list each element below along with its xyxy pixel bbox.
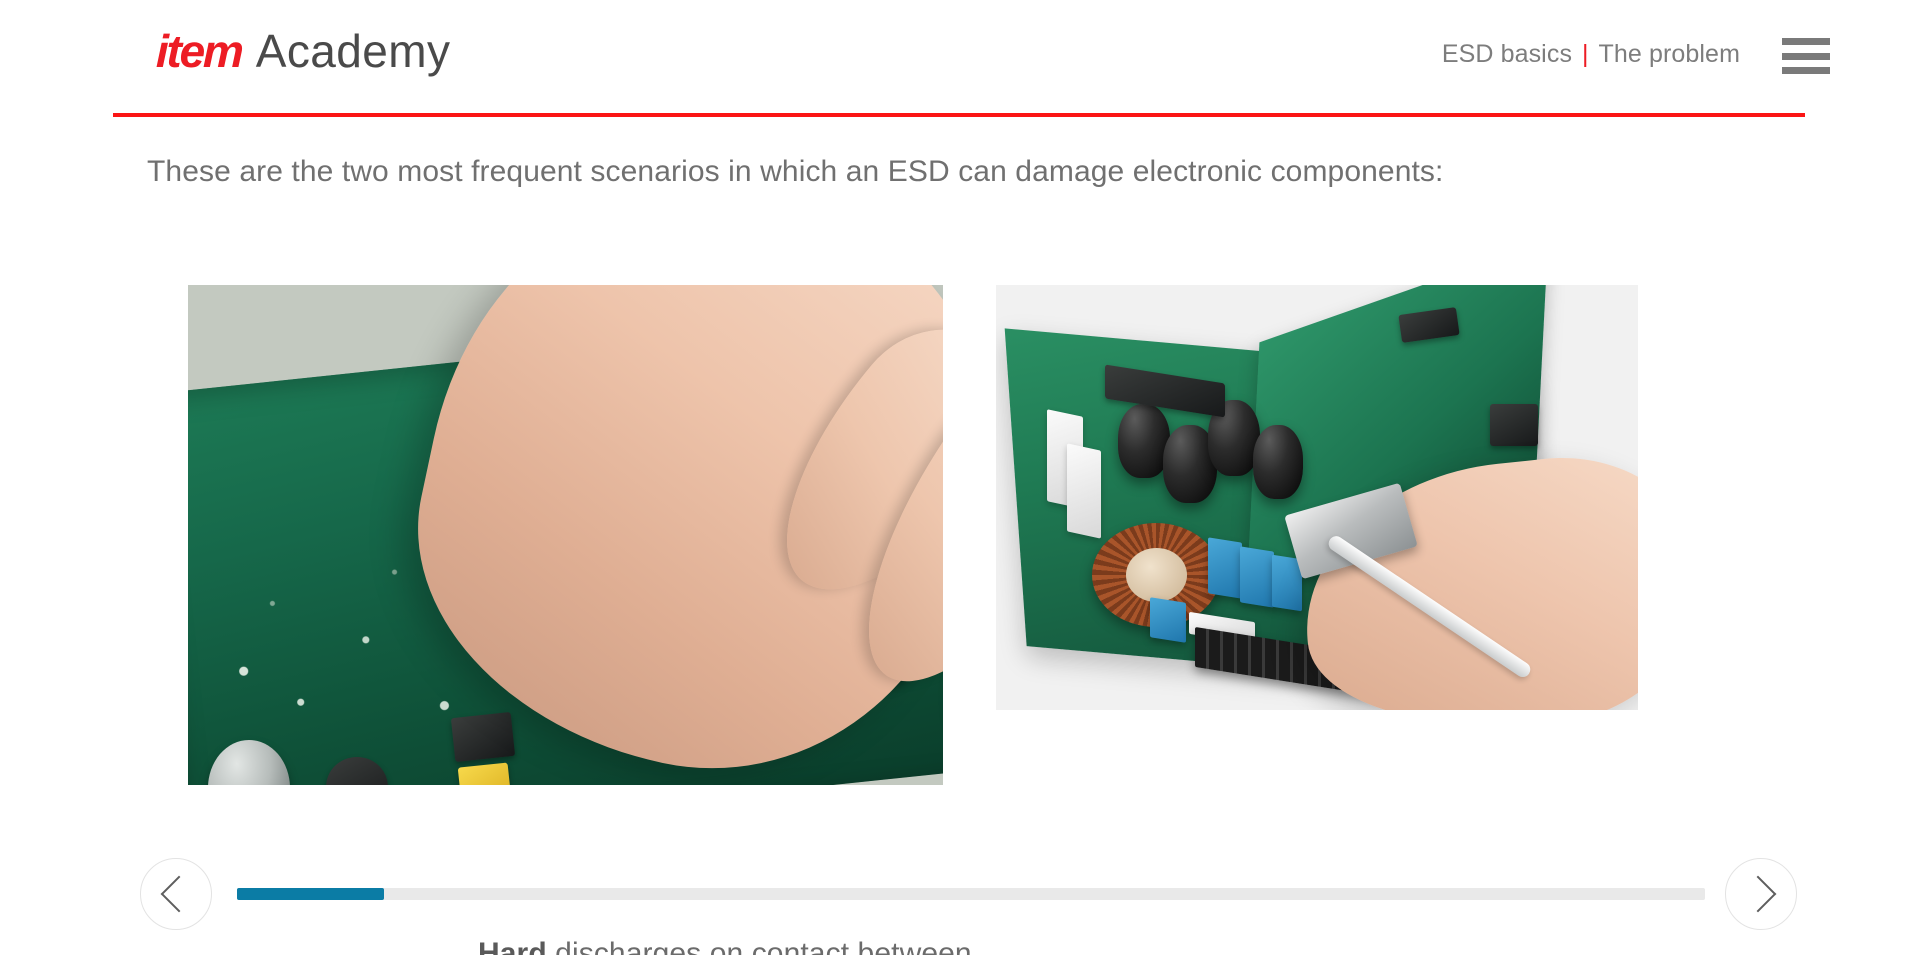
pcb-photo-connector [996,285,1638,710]
pcb-photo-hand-on-board [188,285,943,785]
chevron-left-icon [161,876,198,913]
carousel-prev-button[interactable] [140,858,212,930]
component-black-3 [451,712,515,762]
page-root: item Academy ESD basics | The problem Th… [0,0,1920,955]
capacitor-black-4 [1253,425,1303,499]
component-blue-4 [1150,597,1186,643]
caption-1-bold: Hard [478,937,547,955]
component-blue-1 [1208,537,1242,598]
caption-1-line1: discharges on contact between [547,937,972,955]
scenario-cards: Hard discharges on contact between peopl… [0,0,1920,955]
scenario-caption-1: Hard discharges on contact between peopl… [421,913,1151,955]
scenario-image-2 [996,285,1638,710]
carousel-progress-fill [237,888,384,900]
capacitor-yellow [458,763,513,785]
chevron-right-icon [1740,876,1777,913]
component-blue-2 [1240,546,1274,607]
carousel-next-button[interactable] [1725,858,1797,930]
port-black [1490,404,1538,446]
carousel-progress-track[interactable] [237,888,1705,900]
scenario-image-1 [188,285,943,785]
scenario-card-2[interactable]: Hard discharges on contact with charged … [996,285,1638,710]
connector-white-2 [1067,443,1101,538]
scenario-card-1[interactable]: Hard discharges on contact between peopl… [188,285,943,785]
